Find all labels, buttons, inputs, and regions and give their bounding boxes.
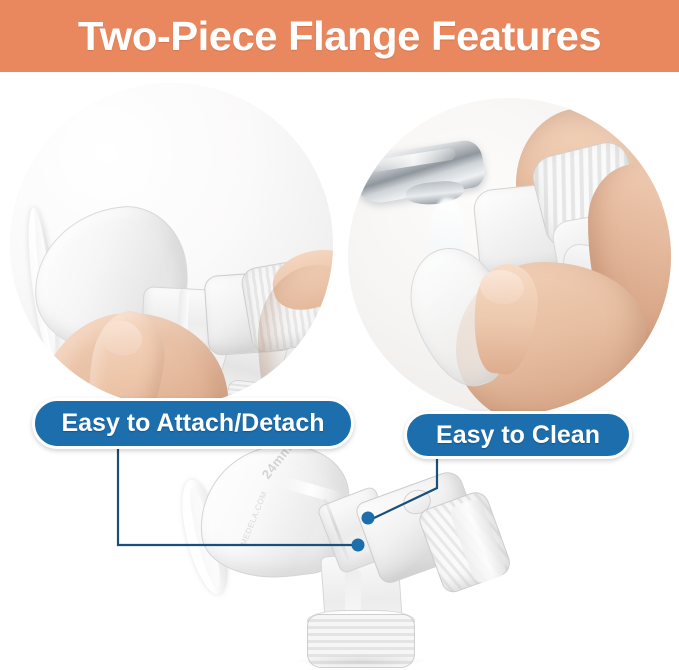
hero-product-image: 24mm MEDELA.COM: [175, 442, 525, 670]
header-banner: Two-Piece Flange Features: [0, 0, 679, 72]
callout-easy-to-clean[interactable]: Easy to Clean: [404, 411, 632, 459]
callout-attach-detach-label: Easy to Attach/Detach: [61, 411, 324, 436]
photo-easy-to-clean: [348, 98, 671, 415]
page-title: Two-Piece Flange Features: [78, 16, 601, 57]
infographic-page: Two-Piece Flange Features: [0, 0, 679, 670]
callout-attach-detach[interactable]: Easy to Attach/Detach: [32, 398, 354, 449]
photo-attach-detach: [10, 83, 333, 406]
callout-easy-to-clean-label: Easy to Clean: [436, 423, 600, 448]
hero-drop-shadow: [295, 654, 427, 668]
